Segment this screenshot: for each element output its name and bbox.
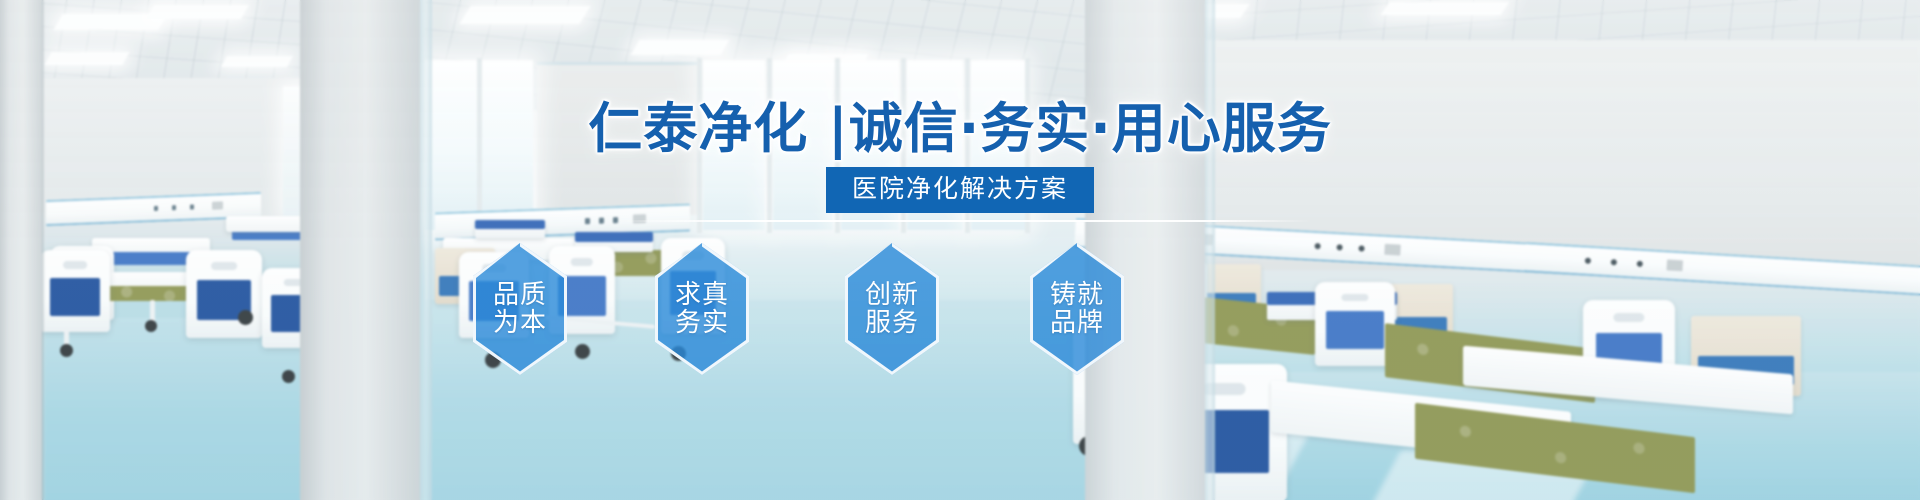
slogan-hexagon-pinzhi-weiben[interactable]: 品质 为本 xyxy=(473,243,567,375)
banner-subtitle-badge: 医院净化解决方案 xyxy=(826,167,1094,213)
slogan-line-1: 品质 xyxy=(493,281,547,309)
subtitle-container: 医院净化解决方案 xyxy=(0,167,1920,213)
hospital-purification-banner: 仁泰净化 |诚信·务实·用心服务 医院净化解决方案 品质 为本 求真 务实 xyxy=(0,0,1920,500)
slogan-hexagon-zhujiu-pinpai[interactable]: 铸就 品牌 xyxy=(1030,243,1124,375)
banner-overlay: 仁泰净化 |诚信·务实·用心服务 医院净化解决方案 品质 为本 求真 务实 xyxy=(0,0,1920,500)
slogan-line-2: 服务 xyxy=(865,309,919,337)
slogan-hexagon-label: 品质 为本 xyxy=(493,281,547,337)
banner-headline: 仁泰净化 |诚信·务实·用心服务 xyxy=(0,99,1920,158)
slogan-line-1: 求真 xyxy=(675,281,729,309)
slogan-hexagon-label: 求真 务实 xyxy=(675,281,729,337)
slogan-hexagon-row: 品质 为本 求真 务实 创新 服务 xyxy=(0,243,1920,375)
slogan-hexagon-qiuzhen-wushi[interactable]: 求真 务实 xyxy=(655,243,749,375)
slogan-hexagon-label: 铸就 品牌 xyxy=(1050,281,1104,337)
horizontal-divider xyxy=(620,220,1310,222)
slogan-line-2: 务实 xyxy=(675,309,729,337)
slogan-line-1: 铸就 xyxy=(1050,281,1104,309)
slogan-hexagon-chuangxin-fuwu[interactable]: 创新 服务 xyxy=(845,243,939,375)
slogan-line-1: 创新 xyxy=(865,281,919,309)
slogan-hexagon-label: 创新 服务 xyxy=(865,281,919,337)
slogan-line-2: 品牌 xyxy=(1050,309,1104,337)
slogan-line-2: 为本 xyxy=(493,309,547,337)
